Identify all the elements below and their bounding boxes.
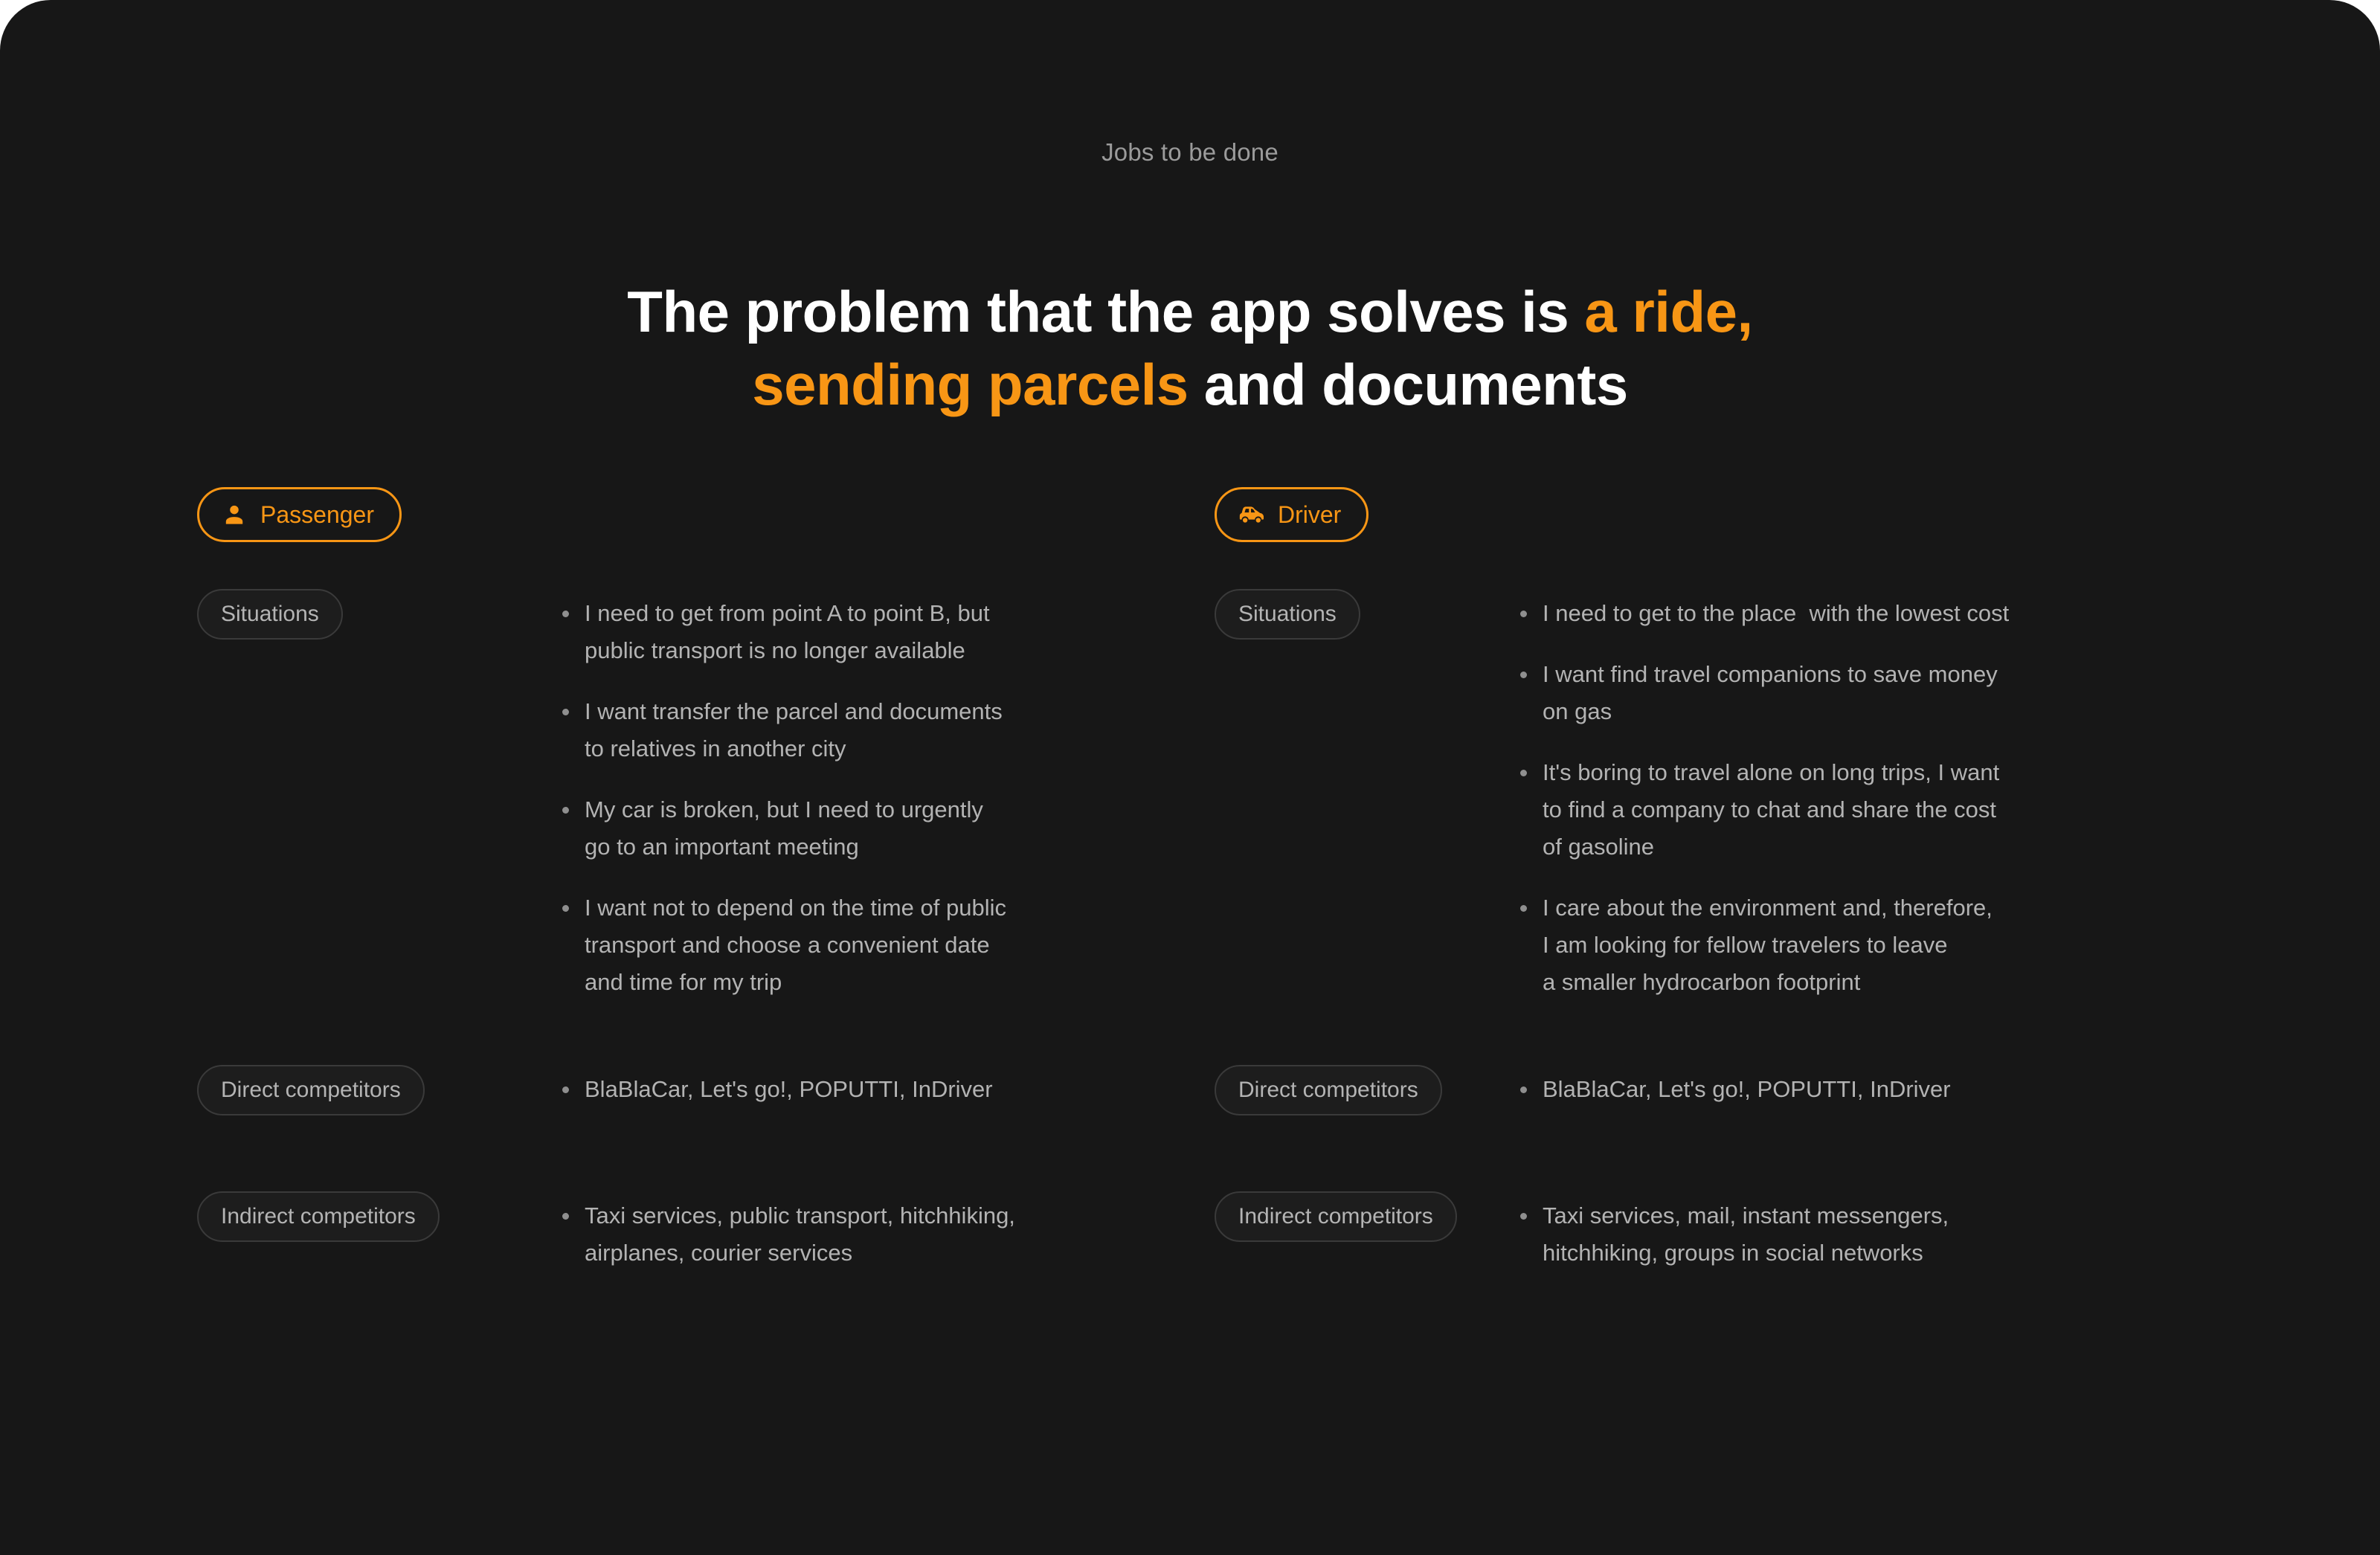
tag-direct-competitors-passenger[interactable]: Direct competitors: [197, 1065, 425, 1115]
bullet-list-situations-driver: I need to get to the place with the lowe…: [1516, 595, 2267, 1001]
slide-canvas: Jobs to be done The problem that the app…: [0, 0, 2380, 1555]
list-item: Taxi services, public transport, hitchhi…: [558, 1197, 1227, 1272]
bullets-wrap-situations-driver: I need to get to the place with the lowe…: [1516, 595, 2267, 1001]
list-item: I want not to depend on the time of publ…: [558, 889, 1227, 1001]
bullet-list-indirect-passenger: Taxi services, public transport, hitchhi…: [558, 1197, 1227, 1272]
row-direct-competitors-passenger: Direct competitors BlaBlaCar, Let's go!,…: [197, 1065, 1261, 1115]
row-situations-passenger: Situations I need to get from point A to…: [197, 589, 1261, 640]
headline-accent-2: sending parcels: [752, 352, 1188, 417]
list-item: BlaBlaCar, Let's go!, POPUTTI, InDriver: [1516, 1071, 2267, 1108]
columns-container: Passenger Situations I need to get from …: [0, 487, 2380, 1379]
list-item: I need to get from point A to point B, b…: [558, 595, 1227, 669]
row-situations-driver: Situations I need to get to the place wi…: [1215, 589, 2278, 640]
bullets-wrap-indirect-driver: Taxi services, mail, instant messengers,…: [1516, 1197, 2267, 1272]
bullets-wrap-direct-driver: BlaBlaCar, Let's go!, POPUTTI, InDriver: [1516, 1071, 2267, 1108]
slide-kicker: Jobs to be done: [0, 138, 2380, 167]
headline-line-2: sending parcels and documents: [0, 348, 2380, 421]
list-item: It's boring to travel alone on long trip…: [1516, 754, 2267, 866]
column-driver: Driver Situations I need to get to the p…: [1215, 487, 2278, 542]
bullets-wrap-indirect-passenger: Taxi services, public transport, hitchhi…: [558, 1197, 1227, 1272]
list-item: I care about the environment and, theref…: [1516, 889, 2267, 1001]
headline-line-1: The problem that the app solves is a rid…: [0, 275, 2380, 348]
tag-direct-competitors-driver[interactable]: Direct competitors: [1215, 1065, 1442, 1115]
bullets-wrap-direct-passenger: BlaBlaCar, Let's go!, POPUTTI, InDriver: [558, 1071, 1227, 1108]
role-badge-driver[interactable]: Driver: [1215, 487, 1368, 542]
list-item: BlaBlaCar, Let's go!, POPUTTI, InDriver: [558, 1071, 1227, 1108]
list-item: Taxi services, mail, instant messengers,…: [1516, 1197, 2267, 1272]
list-item: I need to get to the place with the lowe…: [1516, 595, 2267, 632]
headline-accent-1: a ride,: [1584, 279, 1752, 344]
bullet-list-situations-passenger: I need to get from point A to point B, b…: [558, 595, 1227, 1001]
bullet-list-direct-passenger: BlaBlaCar, Let's go!, POPUTTI, InDriver: [558, 1071, 1227, 1108]
row-indirect-competitors-passenger: Indirect competitors Taxi services, publ…: [197, 1191, 1261, 1242]
headline-text-plain-1: The problem that the app solves is: [627, 279, 1584, 344]
bullet-list-indirect-driver: Taxi services, mail, instant messengers,…: [1516, 1197, 2267, 1272]
list-item: I want transfer the parcel and documents…: [558, 693, 1227, 767]
headline-text-plain-2: and documents: [1189, 352, 1628, 417]
bullets-wrap-situations-passenger: I need to get from point A to point B, b…: [558, 595, 1227, 1001]
page-title: The problem that the app solves is a rid…: [0, 275, 2380, 421]
tag-situations-driver[interactable]: Situations: [1215, 589, 1360, 640]
tag-situations-passenger[interactable]: Situations: [197, 589, 343, 640]
tag-indirect-competitors-passenger[interactable]: Indirect competitors: [197, 1191, 440, 1242]
bullet-list-direct-driver: BlaBlaCar, Let's go!, POPUTTI, InDriver: [1516, 1071, 2267, 1108]
row-direct-competitors-driver: Direct competitors BlaBlaCar, Let's go!,…: [1215, 1065, 2278, 1115]
person-icon: [222, 502, 247, 527]
list-item: I want find travel companions to save mo…: [1516, 656, 2267, 730]
list-item: My car is broken, but I need to urgently…: [558, 791, 1227, 866]
car-icon: [1239, 502, 1264, 527]
tag-indirect-competitors-driver[interactable]: Indirect competitors: [1215, 1191, 1457, 1242]
column-passenger: Passenger Situations I need to get from …: [197, 487, 1261, 542]
row-indirect-competitors-driver: Indirect competitors Taxi services, mail…: [1215, 1191, 2278, 1242]
role-badge-passenger[interactable]: Passenger: [197, 487, 402, 542]
role-label-driver: Driver: [1278, 503, 1341, 527]
role-label-passenger: Passenger: [260, 503, 374, 527]
